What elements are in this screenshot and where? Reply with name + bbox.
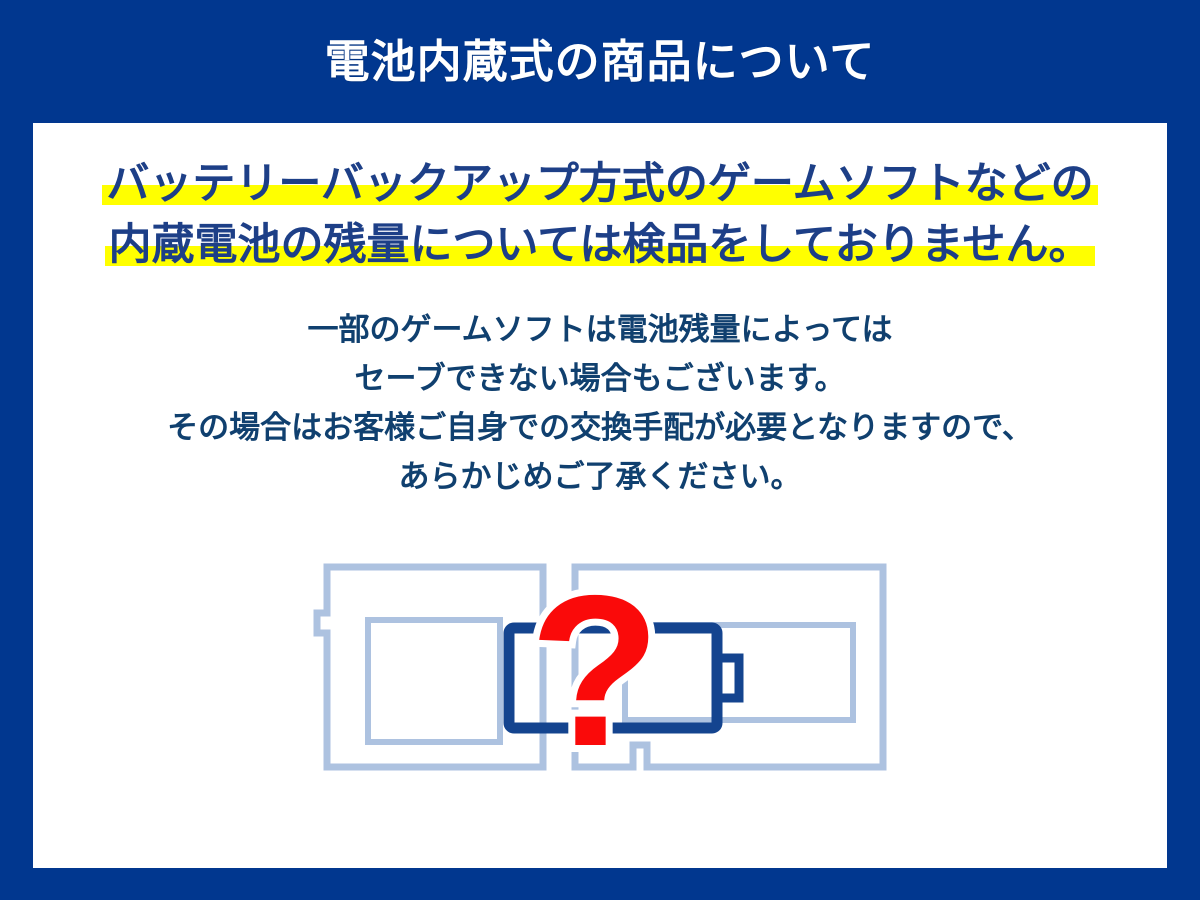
notice-banner: 電池内蔵式の商品について バッテリーバックアップ方式のゲームソフトなどの 内蔵電… [0, 0, 1200, 900]
page-title: 電池内蔵式の商品について [325, 39, 876, 84]
headline-line: 内蔵電池の残量については検品をしておりません。 [33, 224, 1167, 267]
headline-text: 内蔵電池の残量については検品をしておりません。 [109, 221, 1092, 269]
question-mark-icon: ? [529, 555, 660, 785]
body-line: その場合はお客様ご自身での交換手配が必要となりますので、 [33, 412, 1167, 443]
body-line: あらかじめご了承ください。 [33, 461, 1167, 492]
headline-text: バッテリーバックアップ方式のゲームソフトなどの [106, 160, 1093, 208]
body-line: 一部のゲームソフトは電池残量によっては [33, 314, 1167, 345]
body-paragraph: 一部のゲームソフトは電池残量によっては セーブできない場合もございます。 その場… [33, 314, 1167, 492]
body-line: セーブできない場合もございます。 [33, 363, 1167, 394]
headline-line: バッテリーバックアップ方式のゲームソフトなどの [33, 163, 1167, 206]
headline-block: バッテリーバックアップ方式のゲームソフトなどの 内蔵電池の残量については検品をし… [33, 163, 1167, 267]
content-card: バッテリーバックアップ方式のゲームソフトなどの 内蔵電池の残量については検品をし… [33, 123, 1167, 868]
svg-text:?: ? [529, 555, 660, 785]
battery-cartridge-illustration: ? [295, 555, 905, 785]
header-band: 電池内蔵式の商品について [0, 0, 1200, 123]
